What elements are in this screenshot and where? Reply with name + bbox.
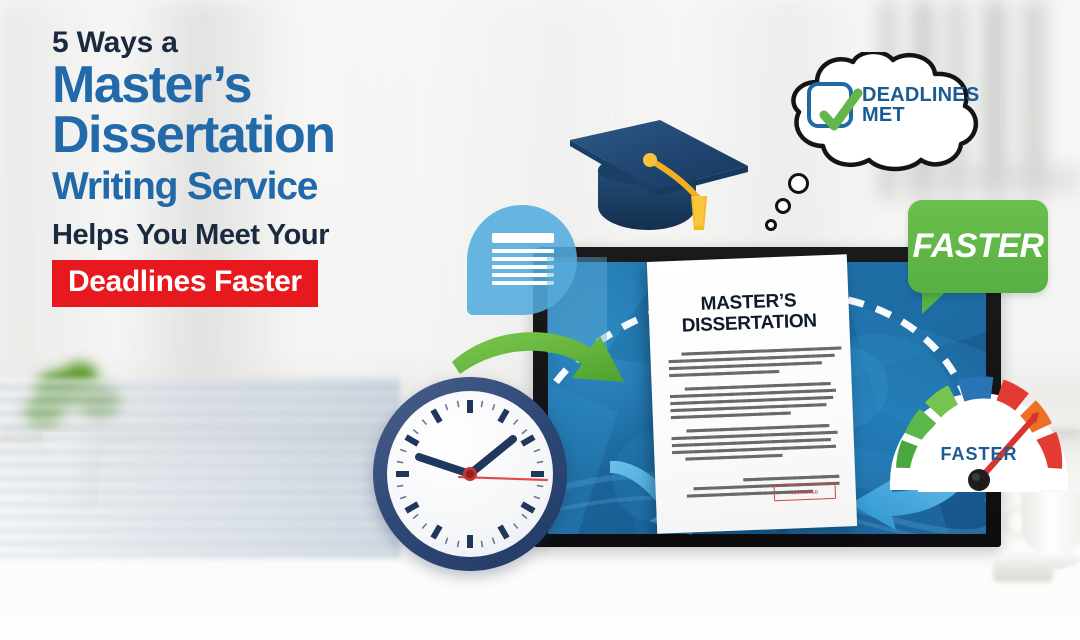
thought-bubble-dot-3 bbox=[765, 219, 777, 231]
marketing-banner: 5 Ways a Master’s Dissertation Writing S… bbox=[0, 0, 1080, 640]
graduation-cap bbox=[560, 108, 760, 238]
headline-line-1: 5 Ways a bbox=[52, 26, 472, 60]
document-stamp-text: APPROVED bbox=[791, 489, 818, 495]
document-title: MASTER’S DISSERTATION bbox=[648, 288, 849, 338]
check-circle-icon bbox=[807, 82, 853, 128]
thought-label-line-2: MET bbox=[862, 105, 979, 125]
faster-speech-bubble: FASTER bbox=[908, 200, 1048, 293]
headline-badge: Deadlines Faster bbox=[52, 260, 318, 307]
green-check-icon bbox=[811, 86, 867, 142]
headline-line-5: Helps You Meet Your bbox=[52, 216, 472, 254]
speedometer-gauge: FASTER bbox=[888, 352, 1070, 492]
thought-bubble-label: DEADLINES MET bbox=[862, 85, 979, 125]
faster-bubble-label: FASTER bbox=[908, 200, 1048, 293]
thought-bubble: DEADLINES MET bbox=[755, 52, 990, 167]
thought-bubble-content: DEADLINES MET bbox=[807, 82, 967, 128]
clock-hands-icon bbox=[387, 391, 553, 557]
wall-clock bbox=[373, 377, 567, 571]
document-body-text bbox=[668, 347, 840, 502]
coffee-cup-body bbox=[1022, 492, 1080, 554]
clock-motion-blur bbox=[0, 378, 400, 558]
graduation-cap-icon bbox=[560, 108, 760, 238]
document-approved-stamp: APPROVED bbox=[774, 483, 837, 501]
speedometer-label: FASTER bbox=[888, 444, 1070, 465]
speedometer-icon bbox=[888, 352, 1070, 492]
headline-line-3: Dissertation bbox=[52, 110, 472, 160]
background-shelf-board bbox=[900, 168, 1080, 202]
dissertation-document: MASTER’S DISSERTATION APPROV bbox=[647, 254, 857, 533]
thought-bubble-dot-2 bbox=[775, 198, 791, 214]
document-lines-icon bbox=[492, 233, 554, 289]
headline-block: 5 Ways a Master’s Dissertation Writing S… bbox=[52, 26, 472, 307]
thought-label-line-1: DEADLINES bbox=[862, 85, 979, 105]
headline-line-2: Master’s bbox=[52, 60, 472, 110]
headline-line-4: Writing Service bbox=[52, 162, 472, 212]
thought-bubble-dot-1 bbox=[788, 173, 809, 194]
